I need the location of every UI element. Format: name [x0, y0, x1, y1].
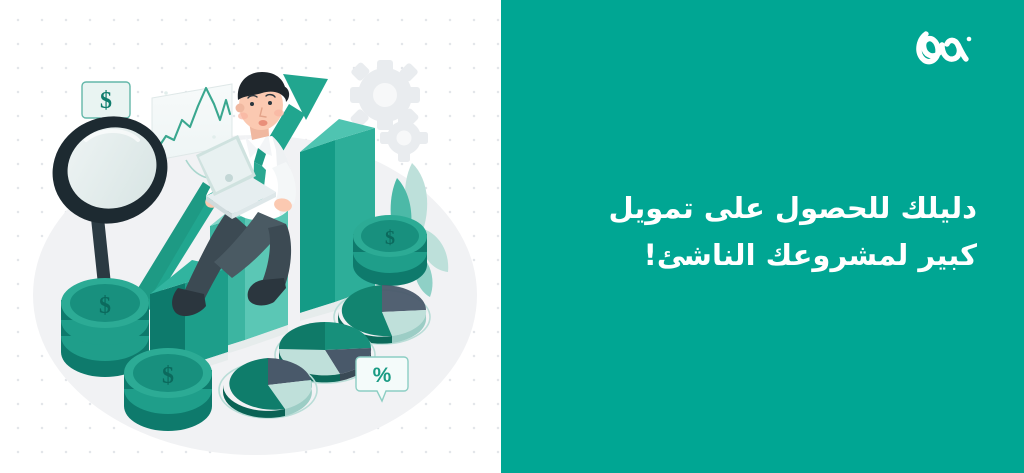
- svg-text:$: $: [385, 227, 395, 249]
- promo-banner: $: [0, 0, 1024, 473]
- svg-text:%: %: [373, 364, 392, 387]
- svg-text:$: $: [162, 363, 174, 389]
- svg-text:$: $: [100, 88, 112, 114]
- headline-line-2: كبير لمشروعك الناشئ!: [607, 232, 977, 279]
- illustration-panel: $: [0, 0, 501, 473]
- svg-text:$: $: [99, 293, 111, 319]
- business-finance-illustration: $: [0, 0, 501, 473]
- headline-panel: دليلك للحصول على تمويل كبير لمشروعك النا…: [501, 0, 1024, 473]
- brand-logo-icon[interactable]: [912, 26, 976, 70]
- logo-dot-icon: [967, 37, 972, 42]
- coin-stack-center: $: [124, 348, 212, 431]
- coin-stack-right: $: [353, 215, 427, 286]
- headline-line-1: دليلك للحصول على تمويل: [607, 185, 977, 232]
- headline-text: دليلك للحصول على تمويل كبير لمشروعك النا…: [607, 185, 977, 280]
